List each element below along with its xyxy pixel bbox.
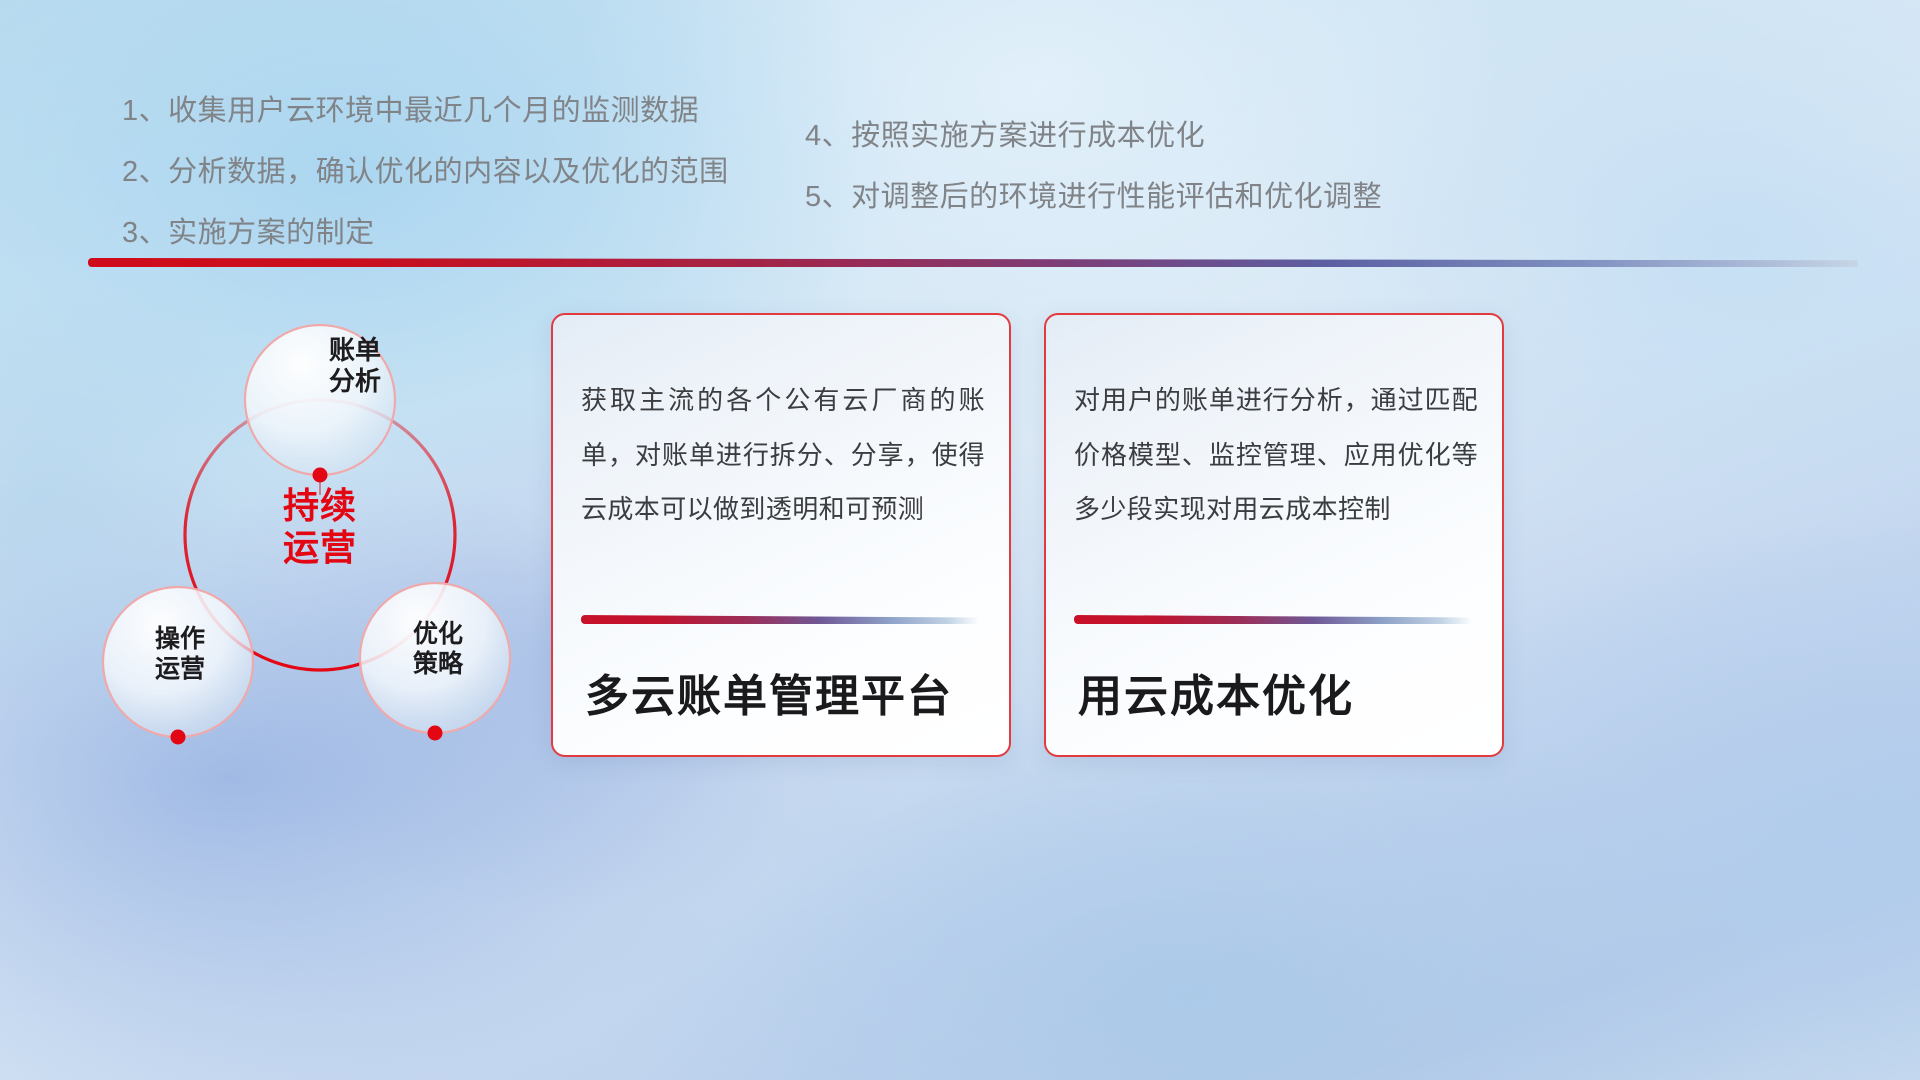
info-card-multicloud-billing[interactable]: 获取主流的各个公有云厂商的账单，对账单进行拆分、分享，使得云成本可以做到透明和可… (551, 313, 1011, 757)
bullet-item: 3、实施方案的制定 (122, 219, 729, 248)
venn-diagram: 账单 分析 持续 运营 操作 运营 优化 策略 (80, 290, 550, 810)
bullet-list-left: 1、收集用户云环境中最近几个月的监测数据 2、分析数据，确认优化的内容以及优化的… (122, 97, 729, 280)
card-body-text: 对用户的账单进行分析，通过匹配价格模型、监控管理、应用优化等多少段实现对用云成本… (1074, 373, 1478, 537)
venn-label-bottom-right: 优化 策略 (378, 620, 498, 679)
bullet-item: 4、按照实施方案进行成本优化 (805, 122, 1382, 151)
info-card-cost-optimization[interactable]: 对用户的账单进行分析，通过匹配价格模型、监控管理、应用优化等多少段实现对用云成本… (1044, 313, 1504, 757)
venn-node-dot-bottom-right (428, 726, 443, 741)
section-divider (88, 258, 1858, 267)
card-divider (581, 615, 979, 624)
venn-label-bottom-left: 操作 运营 (120, 625, 240, 684)
slide-canvas: 1、收集用户云环境中最近几个月的监测数据 2、分析数据，确认优化的内容以及优化的… (0, 0, 1920, 1080)
venn-label-center: 持续 运营 (245, 485, 395, 570)
card-title: 用云成本优化 (1078, 660, 1354, 724)
bullet-item: 5、对调整后的环境进行性能评估和优化调整 (805, 183, 1382, 212)
card-divider (1074, 615, 1472, 624)
bullet-item: 2、分析数据，确认优化的内容以及优化的范围 (122, 158, 729, 187)
card-body-text: 获取主流的各个公有云厂商的账单，对账单进行拆分、分享，使得云成本可以做到透明和可… (581, 373, 985, 537)
bullet-list-right: 4、按照实施方案进行成本优化 5、对调整后的环境进行性能评估和优化调整 (805, 122, 1382, 244)
bullet-item: 1、收集用户云环境中最近几个月的监测数据 (122, 97, 729, 126)
venn-label-top: 账单 分析 (295, 335, 415, 396)
card-title: 多云账单管理平台 (585, 660, 953, 724)
venn-node-dot-bottom-left (171, 730, 186, 745)
